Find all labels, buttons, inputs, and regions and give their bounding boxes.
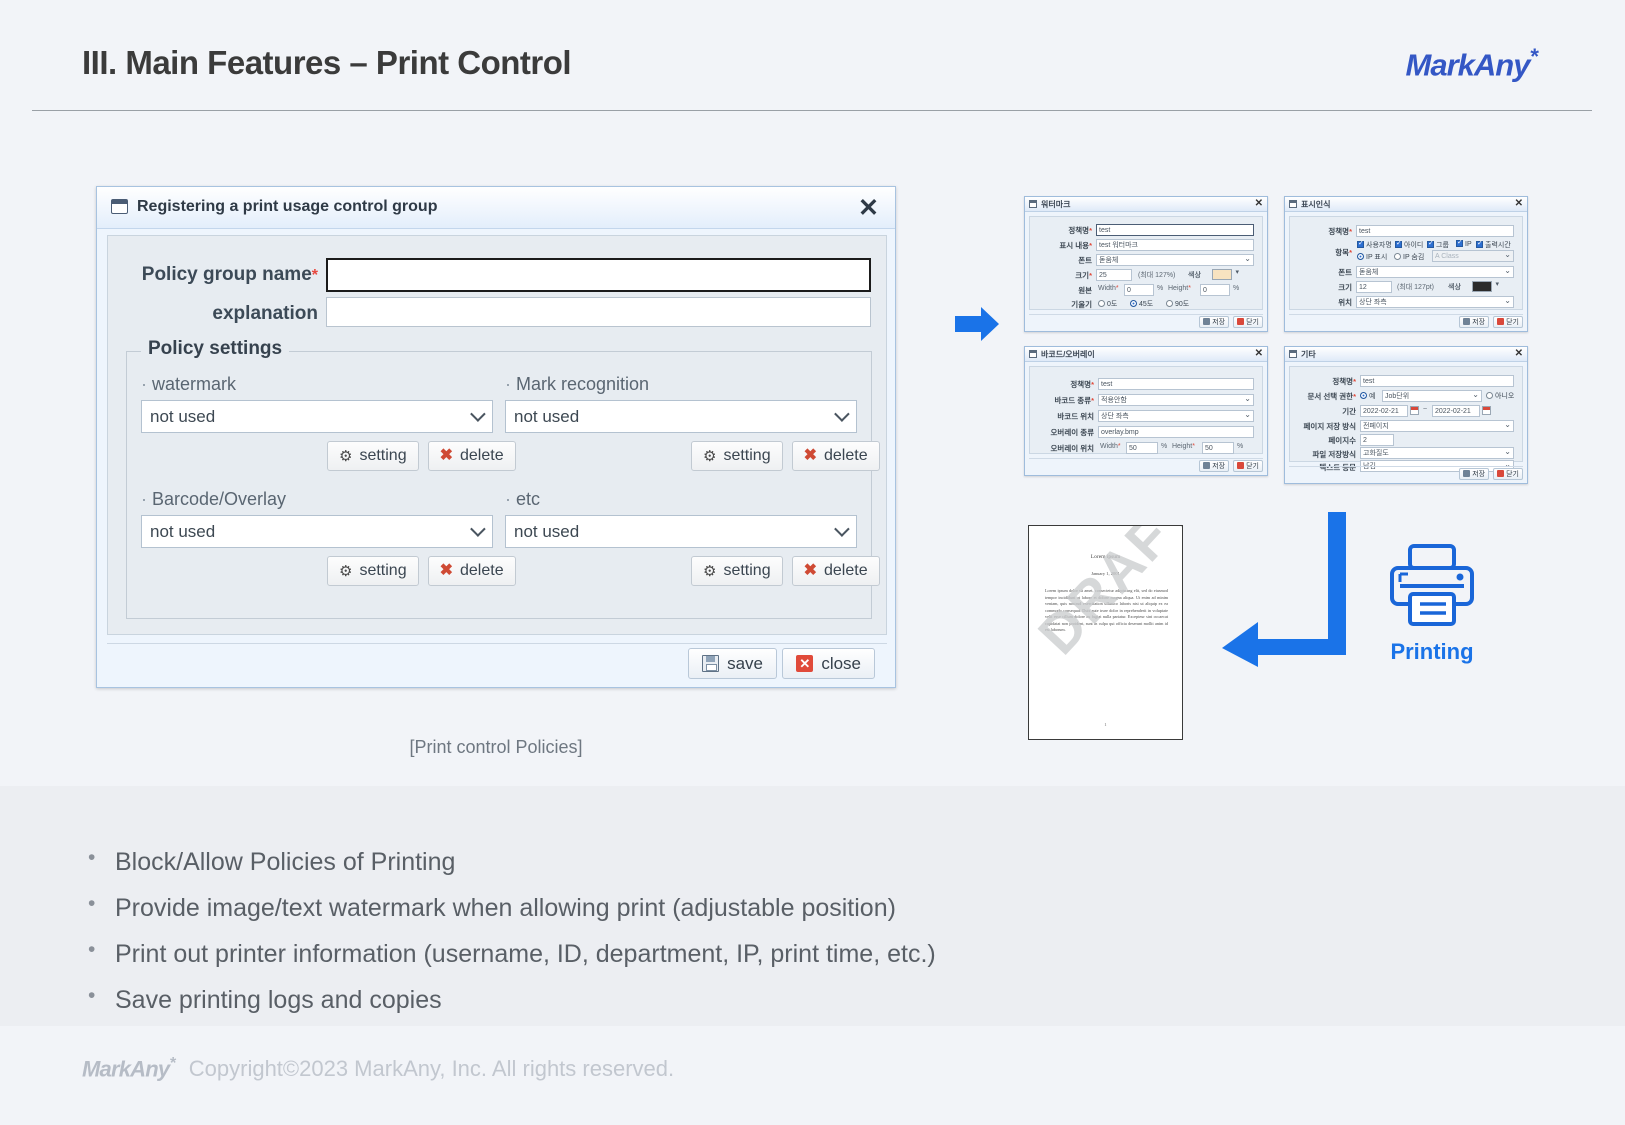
calendar-icon[interactable]	[1410, 406, 1419, 415]
save-button-label: save	[727, 654, 763, 674]
bo-width-input[interactable]: 50	[1126, 442, 1158, 454]
mr-font-select[interactable]: 돋움체	[1356, 266, 1514, 278]
watermark-font-select[interactable]: 돋움체	[1096, 254, 1254, 266]
watermark-close-button[interactable]: 닫기	[1233, 316, 1263, 328]
watermark-dialog-titlebar: 워터마크 ✕	[1025, 197, 1267, 212]
bo-close-button[interactable]: 닫기	[1233, 460, 1263, 472]
close-button[interactable]: ✕ close	[782, 648, 875, 679]
watermark-font-label: 폰트	[1078, 255, 1092, 266]
mark-recognition-delete-label: delete	[824, 447, 868, 465]
floppy-disk-icon	[1203, 318, 1210, 325]
watermark-delete-label: delete	[460, 447, 504, 465]
etc-date-separator: ~	[1423, 406, 1427, 413]
explanation-input[interactable]	[326, 297, 871, 327]
watermark-color-swatch[interactable]	[1212, 269, 1232, 280]
watermark-height-percent: %	[1233, 285, 1239, 292]
close-x-icon	[1497, 318, 1504, 325]
mr-position-select[interactable]: 상단 좌측	[1356, 296, 1514, 308]
watermark-settings-dialog: 워터마크 ✕ 정책명* test 표시 내용* test 워터마크 폰트 돋움체…	[1024, 196, 1268, 332]
mr-color-swatch[interactable]	[1472, 281, 1492, 292]
barcode-overlay-setting-button[interactable]: ⚙ setting	[327, 556, 419, 586]
list-item: Provide image/text watermark when allowi…	[82, 894, 1082, 923]
watermark-dialog-title: 워터마크	[1041, 199, 1070, 210]
etc-page-save-method-select[interactable]: 전페이지	[1360, 420, 1514, 432]
close-x-icon: ✕	[796, 655, 813, 672]
mark-recognition-setting-label: setting	[723, 447, 770, 465]
watermark-tilt-radio-90[interactable]: 90도	[1166, 299, 1189, 309]
footer-markany-logo: MarkAny*	[82, 1055, 175, 1082]
watermark-setting-button[interactable]: ⚙ setting	[327, 441, 419, 471]
header-divider	[32, 110, 1592, 111]
page-title: III. Main Features – Print Control	[82, 44, 571, 82]
flow-arrow-down-left-icon	[1222, 512, 1352, 672]
close-x-icon	[1497, 470, 1504, 477]
bo-height-label: Height*	[1172, 443, 1195, 450]
mark-recognition-dialog-title: 표시인식	[1301, 199, 1330, 210]
mr-checkbox-group[interactable]: 그룹	[1427, 240, 1449, 250]
etc-file-save-method-label: 파일 저장방식	[1313, 449, 1356, 460]
mr-save-button[interactable]: 저장	[1459, 316, 1489, 328]
mr-size-max-note: (최대 127pt)	[1397, 282, 1434, 292]
watermark-height-label: Height*	[1168, 285, 1191, 292]
bo-height-percent: %	[1237, 443, 1243, 450]
etc-permission-scope-select[interactable]: Job단위	[1382, 390, 1482, 402]
mr-color-label: 색상	[1448, 282, 1461, 292]
watermark-select[interactable]: not used	[141, 400, 493, 433]
printed-document-preview: Lorem ipsum January 1, 2001 Lorem ipsum …	[1028, 525, 1183, 740]
bo-save-button[interactable]: 저장	[1199, 460, 1229, 472]
dialog-title: Registering a print usage control group	[137, 198, 437, 216]
print-policy-dialog: Registering a print usage control group …	[96, 186, 896, 688]
etc-page-count-label: 페이지수	[1328, 435, 1356, 446]
bo-height-input[interactable]: 50	[1202, 442, 1234, 454]
x-icon: ✖	[440, 563, 453, 579]
dialog-footer: save ✕ close	[107, 643, 887, 681]
etc-permission-yes-radio[interactable]: 예	[1360, 391, 1375, 401]
explanation-label: explanation	[212, 303, 318, 325]
watermark-button-row: ⚙ setting ✖ delete	[327, 441, 516, 471]
mr-checkbox-print-time[interactable]: 출력시간	[1476, 240, 1511, 250]
mr-font-label: 폰트	[1338, 267, 1352, 278]
etc-select[interactable]: not used	[505, 515, 857, 548]
flow-arrow-right-icon	[955, 305, 999, 343]
watermark-tilt-radio-0[interactable]: 0도	[1098, 299, 1117, 309]
window-icon	[1029, 200, 1037, 208]
bo-policy-name-input[interactable]: test	[1098, 378, 1254, 390]
list-item: Save printing logs and copies	[82, 986, 1082, 1015]
x-icon: ✖	[804, 563, 817, 579]
mr-size-input[interactable]: 12	[1356, 281, 1392, 293]
list-item: Block/Allow Policies of Printing	[82, 848, 1082, 877]
etc-settings-dialog: 기타 ✕ 정책명* test 문서 선택 권한* 예 Job단위 아니오 기간 …	[1284, 346, 1528, 484]
mr-checkbox-id[interactable]: 아이디	[1395, 240, 1423, 250]
etc-period-label: 기간	[1342, 406, 1356, 417]
printer-icon	[1388, 542, 1476, 633]
policy-group-name-label: Policy group name*	[142, 264, 318, 286]
barcode-overlay-select-wrap[interactable]: not used	[141, 515, 493, 548]
slide-footer: MarkAny* Copyright©2023 MarkAny, Inc. Al…	[82, 1055, 674, 1082]
close-icon[interactable]: ✕	[1255, 348, 1263, 360]
printing-label: Printing	[1388, 639, 1476, 665]
etc-delete-label: delete	[824, 562, 868, 580]
window-icon	[1029, 350, 1037, 358]
etc-save-button[interactable]: 저장	[1459, 468, 1489, 480]
bo-barcode-position-label: 바코드 위치	[1057, 411, 1094, 422]
floppy-disk-icon	[1463, 470, 1470, 477]
policy-group-name-label-row: Policy group name*	[128, 260, 318, 292]
calendar-icon[interactable]	[1482, 406, 1491, 415]
mr-checkbox-username[interactable]: 사용자명	[1357, 240, 1392, 250]
close-icon[interactable]: ✕	[858, 193, 879, 223]
watermark-setting-label: setting	[359, 447, 406, 465]
mark-recognition-select[interactable]: not used	[505, 400, 857, 433]
barcode-overlay-setting-label: setting	[359, 562, 406, 580]
bo-barcode-position-select[interactable]: 상단 좌측	[1098, 410, 1254, 422]
etc-file-save-method-select[interactable]: 고화질도	[1360, 447, 1514, 459]
barcode-overlay-dialog-body: 정책명* test 바코드 종류* 적용안함 바코드 위치 상단 좌측 오버레이…	[1029, 366, 1263, 454]
x-icon: ✖	[440, 448, 453, 464]
x-icon: ✖	[804, 448, 817, 464]
watermark-color-label: 색상	[1188, 270, 1201, 280]
watermark-size-max-note: (최대 127%)	[1138, 270, 1175, 280]
barcode-overlay-delete-label: delete	[460, 562, 504, 580]
etc-page-count-input[interactable]: 2	[1360, 434, 1394, 446]
watermark-dialog-body: 정책명* test 표시 내용* test 워터마크 폰트 돋움체 크기* 25…	[1029, 216, 1263, 310]
mr-ip-class-select[interactable]: A Class	[1432, 250, 1514, 262]
etc-button-row: ⚙ setting ✖ delete	[691, 556, 880, 586]
feature-bullet-list: Block/Allow Policies of Printing Provide…	[82, 848, 1082, 1032]
close-button-label: close	[821, 654, 861, 674]
group-label-mark-recognition: Mark recognition	[505, 374, 649, 395]
watermark-width-input[interactable]: 0	[1124, 284, 1154, 296]
etc-page-save-method-label: 페이지 저장 방식	[1304, 421, 1356, 432]
mark-recognition-delete-button[interactable]: ✖ delete	[792, 441, 880, 471]
dialog-titlebar: Registering a print usage control group …	[97, 187, 895, 229]
barcode-overlay-settings-dialog: 바코드/오버레이 ✕ 정책명* test 바코드 종류* 적용안함 바코드 위치…	[1024, 346, 1268, 476]
gear-icon: ⚙	[703, 564, 716, 579]
etc-delete-button[interactable]: ✖ delete	[792, 556, 880, 586]
window-icon	[111, 199, 128, 214]
mr-item-label: 항목*	[1335, 247, 1352, 258]
group-label-barcode-overlay: Barcode/Overlay	[141, 489, 286, 510]
mr-position-label: 위치	[1338, 297, 1352, 308]
etc-permission-no-radio[interactable]: 아니오	[1486, 391, 1514, 401]
etc-close-button[interactable]: 닫기	[1493, 468, 1523, 480]
mr-close-button[interactable]: 닫기	[1493, 316, 1523, 328]
close-icon[interactable]: ✕	[1255, 198, 1263, 210]
watermark-tilt-radio-45[interactable]: 45도	[1130, 299, 1153, 309]
etc-select-wrap[interactable]: not used	[505, 515, 857, 548]
mark-recognition-button-row: ⚙ setting ✖ delete	[691, 441, 880, 471]
barcode-overlay-dialog-title: 바코드/오버레이	[1041, 349, 1095, 360]
close-x-icon	[1237, 318, 1244, 325]
footer-copyright: Copyright©2023 MarkAny, Inc. All rights …	[189, 1056, 674, 1082]
window-icon	[1289, 200, 1297, 208]
watermark-height-input[interactable]: 0	[1200, 284, 1230, 296]
mark-recognition-dialog-footer: 저장 닫기	[1289, 314, 1523, 328]
bo-width-label: Width*	[1100, 443, 1121, 450]
etc-dialog-titlebar: 기타 ✕	[1285, 347, 1527, 362]
etc-policy-name-label: 정책명*	[1332, 376, 1356, 387]
etc-dialog-title: 기타	[1301, 349, 1316, 360]
close-icon[interactable]: ✕	[1515, 348, 1523, 360]
close-x-icon	[1237, 462, 1244, 469]
explanation-label-row: explanation	[128, 299, 318, 331]
floppy-disk-icon	[1203, 462, 1210, 469]
gear-icon: ⚙	[339, 564, 352, 579]
watermark-display-text-input[interactable]: test 워터마크	[1096, 239, 1254, 251]
bo-width-percent: %	[1161, 443, 1167, 450]
watermark-policy-name-input[interactable]: test	[1096, 224, 1254, 236]
slide-header: III. Main Features – Print Control MarkA…	[0, 0, 1625, 120]
mark-recognition-select-wrap[interactable]: not used	[505, 400, 857, 433]
list-item: Print out printer information (username,…	[82, 940, 1082, 969]
gear-icon: ⚙	[339, 449, 352, 464]
watermark-original-label: 원본	[1078, 285, 1092, 296]
etc-date-to-input[interactable]: 2022-02-21	[1432, 405, 1480, 417]
mr-radio-ip-hide[interactable]: IP 숨김	[1394, 252, 1424, 262]
mr-size-label: 크기	[1338, 282, 1352, 293]
policy-settings-fieldset: Policy settings watermark not used ⚙ set…	[126, 351, 872, 619]
etc-dialog-body: 정책명* test 문서 선택 권한* 예 Job단위 아니오 기간 2022-…	[1289, 366, 1523, 462]
barcode-overlay-select[interactable]: not used	[141, 515, 493, 548]
watermark-delete-button[interactable]: ✖ delete	[428, 441, 516, 471]
watermark-tilt-label: 기울기	[1071, 299, 1092, 310]
policy-group-name-input[interactable]	[326, 258, 871, 292]
close-icon[interactable]: ✕	[1515, 198, 1523, 210]
etc-policy-name-input[interactable]: test	[1360, 375, 1514, 387]
mr-checkbox-ip[interactable]: IP	[1456, 240, 1472, 248]
barcode-overlay-button-row: ⚙ setting ✖ delete	[327, 556, 516, 586]
watermark-width-label: Width*	[1098, 285, 1119, 292]
watermark-policy-name-label: 정책명*	[1068, 225, 1092, 236]
etc-dialog-footer: 저장 닫기	[1289, 466, 1523, 480]
mr-policy-name-input[interactable]: test	[1356, 225, 1514, 237]
etc-date-from-input[interactable]: 2022-02-21	[1360, 405, 1408, 417]
watermark-size-input[interactable]: 25	[1096, 269, 1132, 281]
markany-logo-text: MarkAny	[1406, 47, 1530, 82]
watermark-select-wrap[interactable]: not used	[141, 400, 493, 433]
floppy-disk-icon	[702, 655, 719, 672]
etc-permission-label: 문서 선택 권한*	[1308, 391, 1357, 402]
document-page-number: 1	[1029, 722, 1182, 727]
barcode-overlay-delete-button[interactable]: ✖ delete	[428, 556, 516, 586]
save-button[interactable]: save	[688, 648, 777, 679]
mark-recognition-setting-button[interactable]: ⚙ setting	[691, 441, 783, 471]
window-icon	[1289, 350, 1297, 358]
bo-overlay-type-label: 오버레이 종류	[1051, 427, 1094, 438]
group-label-etc: etc	[505, 489, 540, 510]
bo-barcode-type-label: 바코드 종류*	[1054, 395, 1094, 406]
etc-setting-label: setting	[723, 562, 770, 580]
watermark-size-label: 크기*	[1075, 270, 1092, 281]
watermark-width-percent: %	[1157, 285, 1163, 292]
mr-radio-ip-show[interactable]: IP 표시	[1357, 252, 1387, 262]
printer-block: Printing	[1388, 542, 1476, 665]
dialog-body: Policy group name* explanation Policy se…	[107, 235, 887, 635]
barcode-overlay-dialog-titlebar: 바코드/오버레이 ✕	[1025, 347, 1267, 362]
dialog-caption: [Print control Policies]	[96, 737, 896, 758]
etc-setting-button[interactable]: ⚙ setting	[691, 556, 783, 586]
gear-icon: ⚙	[703, 449, 716, 464]
group-label-watermark: watermark	[141, 374, 236, 395]
barcode-overlay-dialog-footer: 저장 닫기	[1029, 458, 1263, 472]
mr-policy-name-label: 정책명*	[1328, 226, 1352, 237]
policy-settings-legend: Policy settings	[141, 338, 289, 360]
mark-recognition-dialog-body: 정책명* test 항목* 사용자명 아이디 그룹 IP 출력시간 IP 표시 …	[1289, 216, 1523, 310]
watermark-save-button[interactable]: 저장	[1199, 316, 1229, 328]
bo-overlay-type-input[interactable]: overlay.bmp	[1098, 426, 1254, 438]
required-marker: *	[312, 267, 318, 284]
mark-recognition-dialog-titlebar: 표시인식 ✕	[1285, 197, 1527, 212]
bo-policy-name-label: 정책명*	[1070, 379, 1094, 390]
watermark-display-text-label: 표시 내용*	[1059, 240, 1092, 251]
floppy-disk-icon	[1463, 318, 1470, 325]
markany-logo-star: *	[1529, 44, 1537, 69]
bo-barcode-type-select[interactable]: 적용안함	[1098, 394, 1254, 406]
markany-logo: MarkAny*	[1406, 44, 1538, 83]
bo-overlay-position-label: 오버레이 위치	[1051, 443, 1094, 454]
watermark-dialog-footer: 저장 닫기	[1029, 314, 1263, 328]
mark-recognition-settings-dialog: 표시인식 ✕ 정책명* test 항목* 사용자명 아이디 그룹 IP 출력시간…	[1284, 196, 1528, 332]
